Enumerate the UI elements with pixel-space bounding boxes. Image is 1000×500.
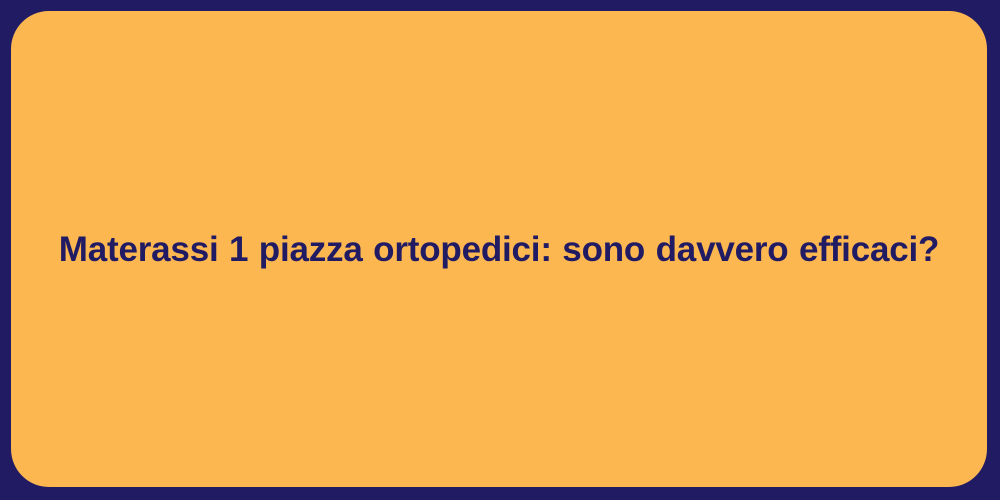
headline-text: Materassi 1 piazza ortopedici: sono davv… — [11, 228, 987, 272]
banner-card: Materassi 1 piazza ortopedici: sono davv… — [11, 11, 987, 487]
banner-root: Materassi 1 piazza ortopedici: sono davv… — [0, 0, 1000, 500]
